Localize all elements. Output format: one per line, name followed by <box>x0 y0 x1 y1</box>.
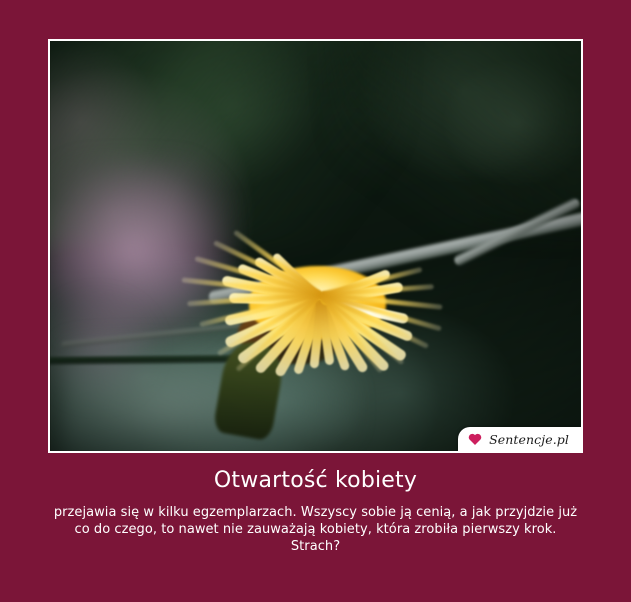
watermark-badge[interactable]: Sentencje.pl <box>458 427 581 451</box>
photo-vignette <box>50 41 581 451</box>
caption: Otwartość kobiety przejawia się w kilku … <box>0 466 631 555</box>
caption-line: przejawia się w kilku egzemplarzach. Wsz… <box>16 504 616 521</box>
photo-frame: Sentencje.pl <box>48 39 583 453</box>
watermark-label: Sentencje.pl <box>489 432 569 447</box>
caption-line: Strach? <box>16 538 616 555</box>
quote-poster: Sentencje.pl Otwartość kobiety przejawia… <box>0 0 631 602</box>
photo: Sentencje.pl <box>50 41 581 451</box>
heart-icon <box>468 432 482 446</box>
caption-line: co do czego, to nawet nie zauważają kobi… <box>16 521 616 538</box>
caption-title: Otwartość kobiety <box>0 466 631 496</box>
caption-body: przejawia się w kilku egzemplarzach. Wsz… <box>16 504 616 555</box>
